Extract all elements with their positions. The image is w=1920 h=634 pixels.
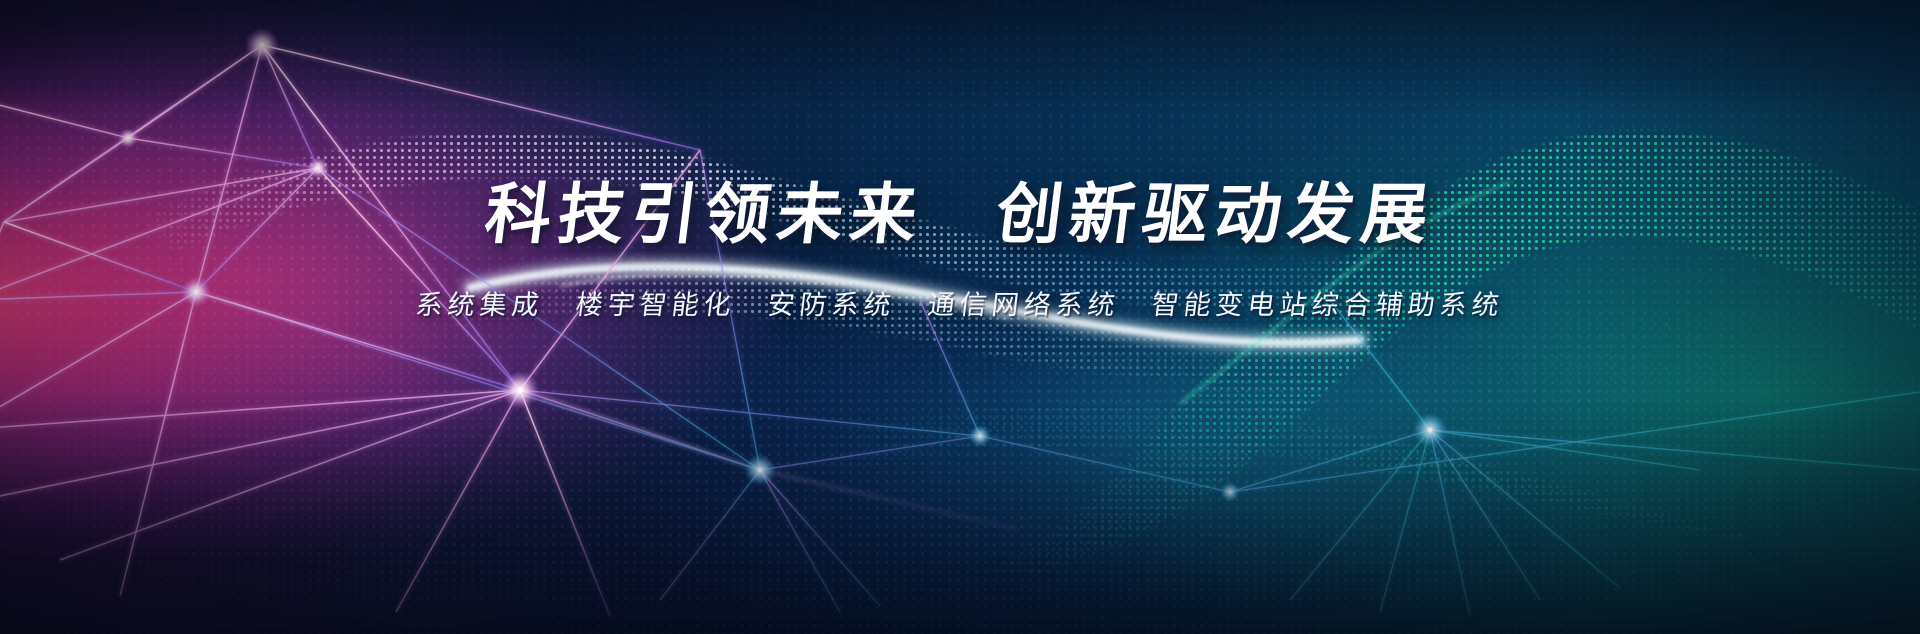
tech-banner: 科技引领未来 创新驱动发展 系统集成 楼宇智能化 安防系统 通信网络系统 智能变…: [0, 0, 1920, 634]
vignette-overlay: [0, 0, 1920, 634]
